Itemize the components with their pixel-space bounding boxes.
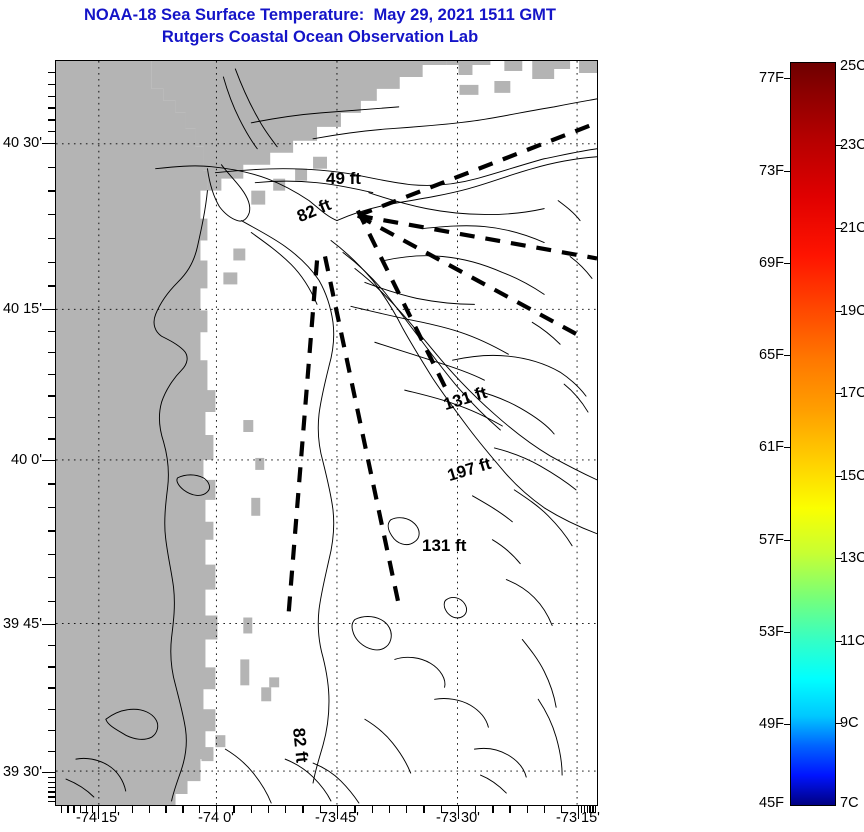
land-mask-speckle-14 <box>295 169 307 181</box>
lon-minor-tick <box>92 806 93 813</box>
cb-label-17c: 17C <box>840 385 864 401</box>
land-mask-speckle-20 <box>269 677 279 687</box>
lon-minor-tick <box>199 806 200 813</box>
lat-minor-tick <box>48 285 55 286</box>
cb-tick-23c <box>836 145 842 146</box>
cb-label-57f: 57F <box>759 532 784 548</box>
contour-cloud-edge-3 <box>385 256 544 295</box>
lat-minor-tick <box>48 352 55 353</box>
land-mask-speckle-8 <box>240 659 249 685</box>
transect-ne-2 <box>358 216 597 259</box>
land-mask-ne-block-a <box>504 61 522 71</box>
contour-south-blob-5 <box>365 719 411 773</box>
land-mask-speckle-18 <box>215 735 225 747</box>
lon-tick-7415 <box>98 806 99 819</box>
lat-minor-tick <box>48 395 55 396</box>
lat-minor-tick <box>48 483 55 484</box>
lat-tick-3930 <box>42 772 55 773</box>
contour-south-blob-18 <box>444 597 466 617</box>
title-line-2: Rutgers Coastal Ocean Observation Lab <box>0 26 640 48</box>
lon-minor-tick <box>182 806 183 813</box>
contour-east-fine-4 <box>564 384 588 412</box>
lat-minor-tick <box>48 238 55 239</box>
lon-minor-tick <box>492 806 493 813</box>
cb-label-9c: 9C <box>840 715 859 731</box>
lon-minor-tick <box>595 806 596 813</box>
contour-cloud-edge-5 <box>351 306 508 354</box>
lon-tick-7400 <box>216 806 217 819</box>
coastline-li-south-shore <box>337 157 597 221</box>
lon-minor-tick <box>132 806 133 813</box>
cb-tick-21c <box>836 228 842 229</box>
lat-minor-tick <box>48 645 55 646</box>
lon-minor-tick <box>527 806 528 813</box>
lat-minor-tick <box>48 577 55 578</box>
lon-label-7315: -73 15' <box>556 810 600 826</box>
contour-south-blob-6 <box>506 580 552 626</box>
contour-south-blob-16 <box>313 763 359 803</box>
lon-minor-tick <box>372 806 373 813</box>
lon-tick-7345 <box>337 806 338 819</box>
lon-minor-tick <box>561 806 562 813</box>
lat-label-3945: 39 45' <box>3 616 42 632</box>
contour-south-blob-10 <box>225 749 271 803</box>
land-mask-speckle-19 <box>261 687 271 701</box>
contour-south-blob-4 <box>474 748 526 777</box>
land-mask-ne-block-e <box>494 81 510 93</box>
contour-south-blob-9 <box>285 759 331 801</box>
lon-label-7345: -73 45' <box>315 810 359 826</box>
lat-minor-tick <box>48 554 55 555</box>
contour-south-blob-7 <box>522 639 556 707</box>
transect-line-layer <box>288 123 597 620</box>
lat-tick-3945 <box>42 624 55 625</box>
land-mask-ne-block-c <box>579 61 597 73</box>
lon-minor-tick <box>233 806 234 813</box>
cb-label-7c: 7C <box>840 795 859 811</box>
lon-minor-tick <box>544 806 545 813</box>
land-mask-speckle-12 <box>251 191 265 205</box>
lon-minor-tick <box>592 806 593 813</box>
lat-label-4015: 40 15' <box>3 301 42 317</box>
contour-cloud-edge-9 <box>474 390 554 434</box>
contour-east-fine-2 <box>570 256 592 278</box>
contour-cloud-edge-2 <box>423 226 545 243</box>
cb-label-19c: 19C <box>840 303 864 319</box>
lon-minor-tick <box>441 806 442 813</box>
lon-minor-tick <box>581 806 582 813</box>
lat-tick-4015 <box>42 309 55 310</box>
lon-tick-7330 <box>458 806 459 819</box>
contour-east-fine-3 <box>532 322 560 344</box>
cb-tick-9c <box>836 723 842 724</box>
land-mask-north-shelf <box>447 61 491 75</box>
lon-minor-tick <box>251 806 252 813</box>
lat-minor-tick <box>48 687 55 688</box>
lat-minor-tick <box>48 190 55 191</box>
lon-minor-tick <box>406 806 407 813</box>
land-mask-speckle-11 <box>233 248 245 260</box>
land-mask-speckle-7 <box>243 618 252 634</box>
lat-minor-tick <box>48 131 55 132</box>
land-mask-speckle-17 <box>201 751 213 761</box>
cb-label-53f: 53F <box>759 624 784 640</box>
contour-cloud-edge-11 <box>514 490 572 546</box>
cb-tick-17c <box>836 393 842 394</box>
lat-label-3930: 39 30' <box>3 764 42 780</box>
page-title: NOAA-18 Sea Surface Temperature: May 29,… <box>0 4 640 48</box>
contour-cloud-edge-6 <box>375 342 485 380</box>
cb-label-77f: 77F <box>759 70 784 86</box>
contour-south-blob-1 <box>352 617 391 650</box>
land-mask-layer <box>56 61 597 805</box>
lon-minor-tick <box>67 806 68 813</box>
land-mask-speckle-6 <box>251 498 260 516</box>
title-line-1: NOAA-18 Sea Surface Temperature: May 29,… <box>0 4 640 26</box>
contour-south-blob-3 <box>435 699 489 728</box>
cb-tick-15c <box>836 476 842 477</box>
land-mask-speckle-1 <box>156 310 168 324</box>
lat-minor-tick <box>48 666 55 667</box>
lon-minor-tick <box>73 806 74 813</box>
contour-cloud-edge-8 <box>453 355 587 396</box>
land-mask-speckle-10 <box>223 272 237 284</box>
land-mask-speckle-13 <box>273 179 285 191</box>
colorbar-gradient <box>791 63 835 805</box>
land-mask-speckle-9 <box>186 699 200 711</box>
contour-cloud-edge-4 <box>365 282 475 304</box>
cb-label-21c: 21C <box>840 220 864 236</box>
lon-minor-tick <box>80 806 81 813</box>
lat-label-4000: 40 0' <box>11 452 42 468</box>
contour-south-blob-8 <box>538 699 562 775</box>
lat-minor-tick <box>48 791 55 792</box>
lat-label-4030: 40 30' <box>3 135 42 151</box>
land-mask-ne-block-b <box>532 61 570 79</box>
lat-minor-tick <box>48 119 55 120</box>
transect-s-2 <box>288 260 317 619</box>
lon-minor-tick <box>584 806 585 813</box>
cb-tick-11c <box>836 641 842 642</box>
transect-se-2 <box>358 211 447 391</box>
lat-minor-tick <box>48 801 55 802</box>
lat-minor-tick <box>48 777 55 778</box>
lon-minor-tick <box>302 806 303 813</box>
cb-tick-13c <box>836 558 842 559</box>
cb-label-23c: 23C <box>840 137 864 153</box>
lat-minor-tick <box>48 796 55 797</box>
lat-minor-tick <box>48 787 55 788</box>
cb-label-61f: 61F <box>759 439 784 455</box>
land-mask-speckle-4 <box>243 420 253 432</box>
transect-ne-1 <box>358 123 597 216</box>
land-mask-speckle-2 <box>168 322 182 334</box>
lat-minor-tick <box>48 507 55 508</box>
lat-minor-tick <box>48 530 55 531</box>
cb-label-11c: 11C <box>840 633 864 649</box>
map-canvas <box>56 61 597 805</box>
lon-minor-tick <box>475 806 476 813</box>
contour-cloud-edge-12 <box>472 496 512 522</box>
lon-minor-tick <box>165 806 166 813</box>
lat-minor-tick <box>48 438 55 439</box>
lat-minor-tick <box>48 417 55 418</box>
land-mask-nj-ny <box>56 61 217 805</box>
lon-label-7400: -74 0' <box>198 810 234 826</box>
lon-minor-tick <box>149 806 150 813</box>
cb-label-73f: 73F <box>759 163 784 179</box>
contour-south-blob-14 <box>388 518 419 545</box>
land-mask-speckle-3 <box>182 358 198 370</box>
cb-label-45f: 45F <box>759 795 784 811</box>
contour-cloud-edge-10 <box>494 448 576 490</box>
lat-minor-tick <box>48 167 55 168</box>
sst-map-plot[interactable]: 49 ft 82 ft 131 ft 197 ft 131 ft 82 ft 4… <box>55 60 598 806</box>
land-mask-ne-block-d <box>460 85 479 95</box>
cb-label-65f: 65F <box>759 347 784 363</box>
lat-minor-tick <box>48 84 55 85</box>
lon-label-7415: -74 15' <box>76 810 120 826</box>
lon-minor-tick <box>320 806 321 813</box>
lon-minor-tick <box>589 806 590 813</box>
lat-minor-tick <box>48 782 55 783</box>
lon-minor-tick <box>61 806 62 813</box>
contour-south-blob-2 <box>395 657 445 687</box>
cb-label-15c: 15C <box>840 468 864 484</box>
cb-tick-19c <box>836 311 842 312</box>
lat-minor-tick <box>48 751 55 752</box>
cb-label-25c: 25C <box>840 58 864 74</box>
cb-label-69f: 69F <box>759 255 784 271</box>
contour-east-fine-5 <box>492 540 520 564</box>
contour-49ft-north <box>215 149 597 186</box>
lon-label-7330: -73 30' <box>436 810 480 826</box>
lon-minor-tick <box>389 806 390 813</box>
lat-tick-4000 <box>42 460 55 461</box>
lon-minor-tick <box>354 806 355 813</box>
lon-minor-tick <box>285 806 286 813</box>
colorbar[interactable] <box>790 62 836 806</box>
cb-label-49f: 49F <box>759 716 784 732</box>
lat-minor-tick <box>48 72 55 73</box>
lat-tick-4030 <box>42 143 55 144</box>
lat-minor-tick <box>48 730 55 731</box>
lon-minor-tick <box>587 806 588 813</box>
lat-minor-tick <box>48 107 55 108</box>
cb-label-13c: 13C <box>840 550 864 566</box>
land-mask-speckle-15 <box>313 157 327 169</box>
lat-minor-tick <box>48 601 55 602</box>
lon-minor-tick <box>509 806 510 813</box>
lon-tick-7315 <box>578 806 579 819</box>
lon-minor-tick <box>115 806 116 813</box>
contour-82ft-b <box>251 233 317 305</box>
lon-minor-tick <box>423 806 424 813</box>
lat-minor-tick <box>48 709 55 710</box>
lat-minor-tick <box>48 331 55 332</box>
lat-minor-tick <box>48 214 55 215</box>
lat-minor-tick <box>48 96 55 97</box>
lon-minor-tick <box>86 806 87 813</box>
lon-minor-tick <box>268 806 269 813</box>
contour-49ft-inner-a <box>255 181 373 192</box>
lat-minor-tick <box>48 262 55 263</box>
lat-minor-tick <box>48 374 55 375</box>
contour-south-blob-17 <box>480 775 506 793</box>
